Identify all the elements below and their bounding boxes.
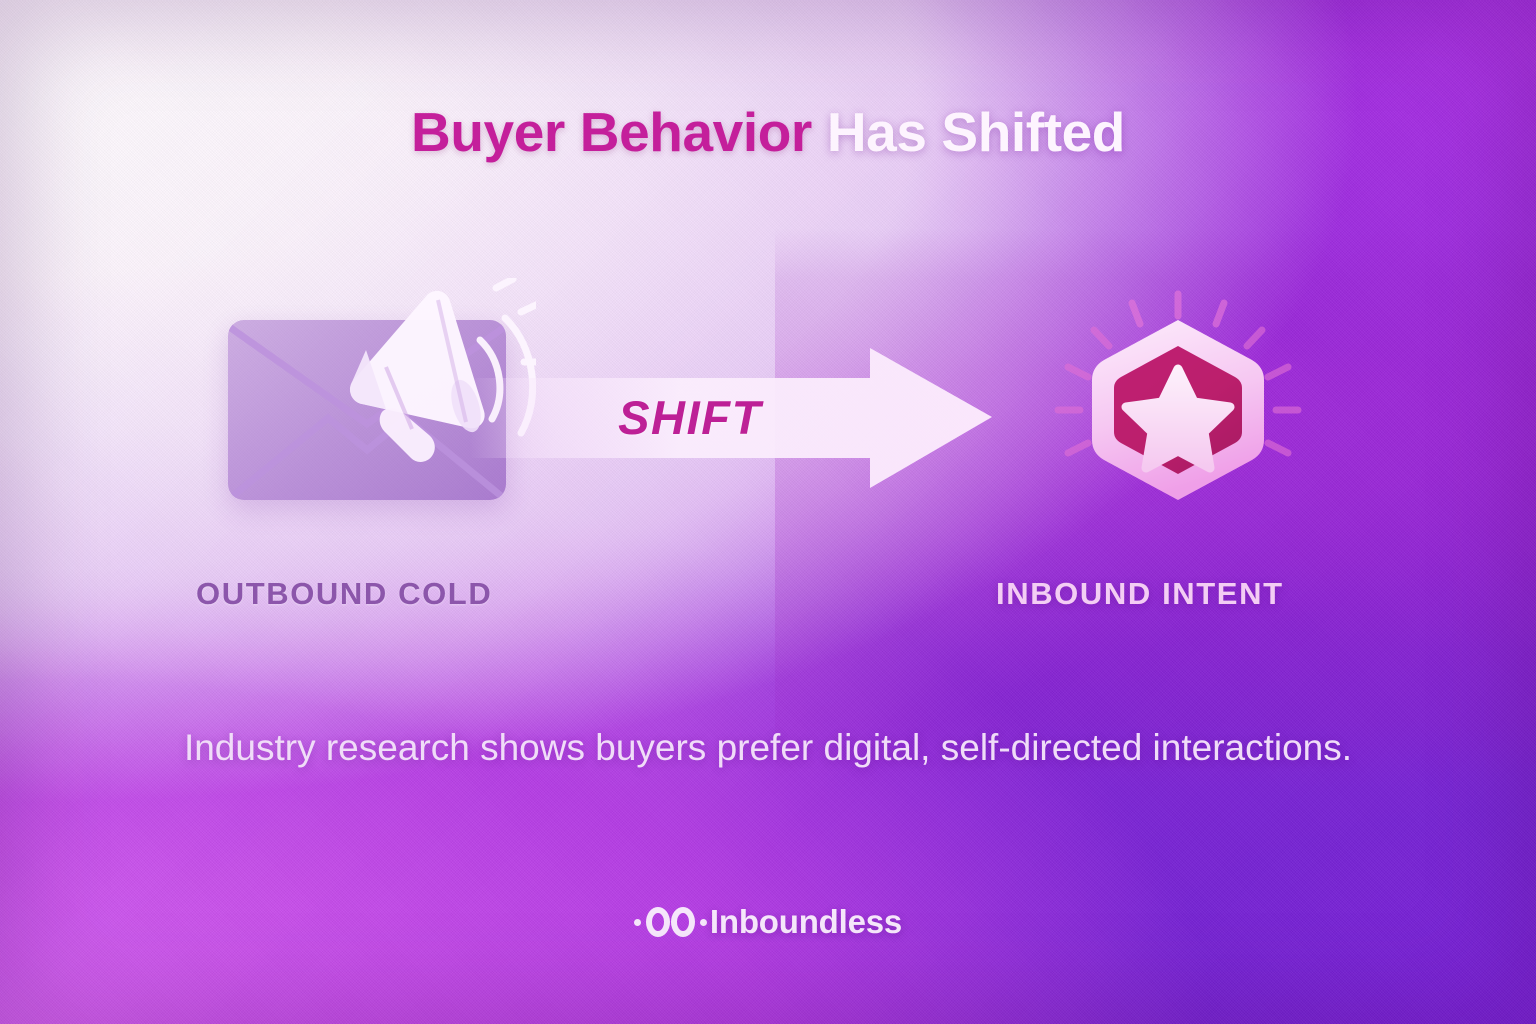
logo-wordmark: Inboundless [710, 903, 902, 941]
double-ring-logo-icon [634, 907, 707, 937]
infographic-canvas: Buyer Behavior Has Shifted [0, 0, 1536, 1024]
page-title-plain: Has Shifted [812, 101, 1125, 163]
shift-label-text: SHIFT [618, 390, 762, 445]
inbound-label: INBOUND INTENT [996, 576, 1284, 612]
brand-logo: Inboundless [0, 903, 1536, 941]
logo-ring-first [646, 907, 670, 937]
inbound-icon-group [1028, 280, 1328, 540]
outbound-label: OUTBOUND COLD [196, 576, 492, 612]
logo-dot-right [700, 919, 707, 926]
body-caption: Industry research shows buyers prefer di… [170, 720, 1366, 776]
shield-star-badge-icon [1028, 280, 1328, 540]
shift-label: SHIFT [470, 340, 910, 495]
page-title-accent: Buyer Behavior [411, 101, 812, 163]
logo-ring-second [671, 907, 695, 937]
page-title: Buyer Behavior Has Shifted [0, 100, 1536, 164]
outbound-icon-group [228, 320, 506, 500]
logo-dot-left [634, 919, 641, 926]
